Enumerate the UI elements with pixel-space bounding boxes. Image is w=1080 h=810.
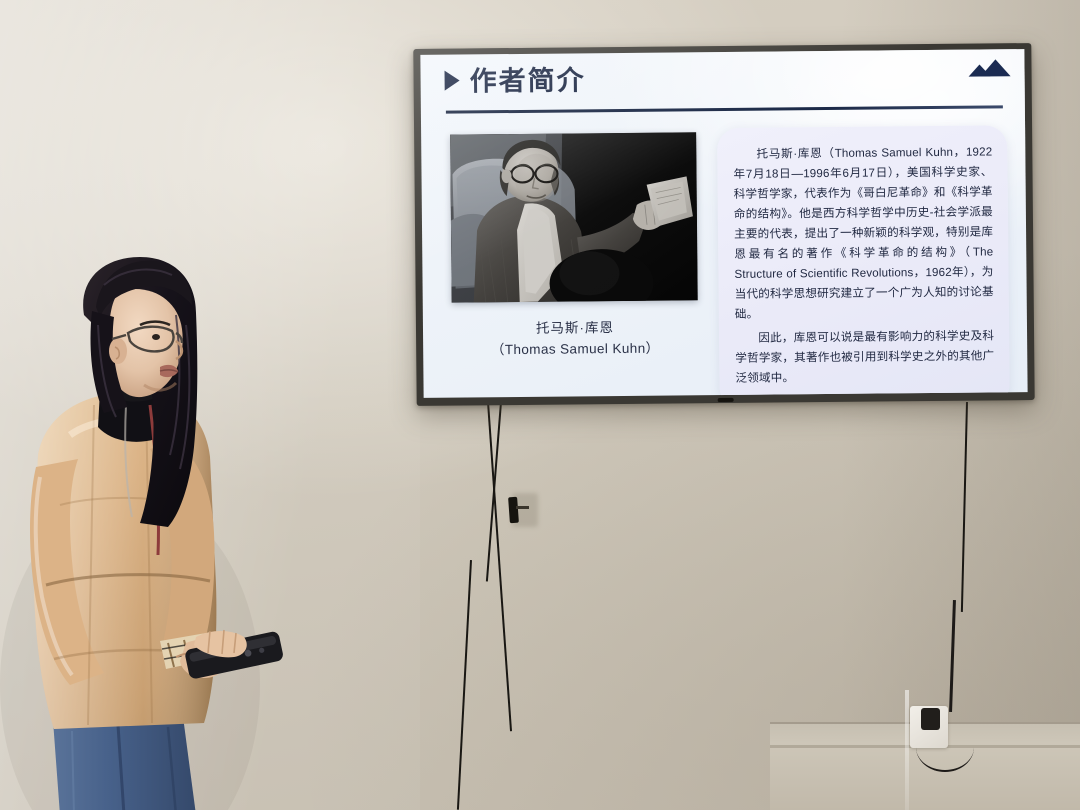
text-column: 托马斯·库恩（Thomas Samuel Kuhn，1922年7月18日—199…: [717, 121, 1009, 381]
page-title: 作者简介: [469, 67, 585, 95]
biography-paragraph-2: 因此，库恩可以说是最有影响力的科学史及科学哲学家，其著作也被引用到科学史之外的其…: [735, 327, 995, 389]
slide-title-row: 作者简介: [444, 63, 1004, 95]
photo-caption-cn: 托马斯·库恩: [491, 318, 660, 341]
slide-body: 托马斯·库恩 （Thomas Samuel Kuhn） 托马斯·库恩（Thoma…: [443, 121, 1009, 383]
classroom-scene: 作者简介: [0, 0, 1080, 810]
photo-column: 托马斯·库恩 （Thomas Samuel Kuhn）: [443, 124, 705, 383]
mountain-triangle-icon-small: [968, 64, 990, 76]
cable-clip: [508, 497, 519, 524]
tv-cable-run: [457, 560, 582, 810]
wall-mounted-tv[interactable]: 作者简介: [413, 43, 1034, 406]
presentation-slide: 作者简介: [420, 49, 1027, 398]
play-triangle-icon: [445, 70, 460, 90]
wall-seam: [905, 690, 909, 810]
biography-paragraph-1: 托马斯·库恩（Thomas Samuel Kuhn，1922年7月18日—199…: [733, 142, 994, 324]
tv-status-led: [718, 398, 734, 402]
photo-caption: 托马斯·库恩 （Thomas Samuel Kuhn）: [491, 318, 660, 361]
cable-clip-arm: [516, 506, 529, 509]
biography-card: 托马斯·库恩（Thomas Samuel Kuhn，1922年7月18日—199…: [717, 125, 1010, 398]
outlet-cord: [916, 690, 974, 772]
presenter: [0, 255, 300, 810]
title-divider: [446, 105, 1003, 113]
photo-caption-en: （Thomas Samuel Kuhn）: [491, 339, 660, 362]
kuhn-portrait-photo: [450, 132, 698, 302]
